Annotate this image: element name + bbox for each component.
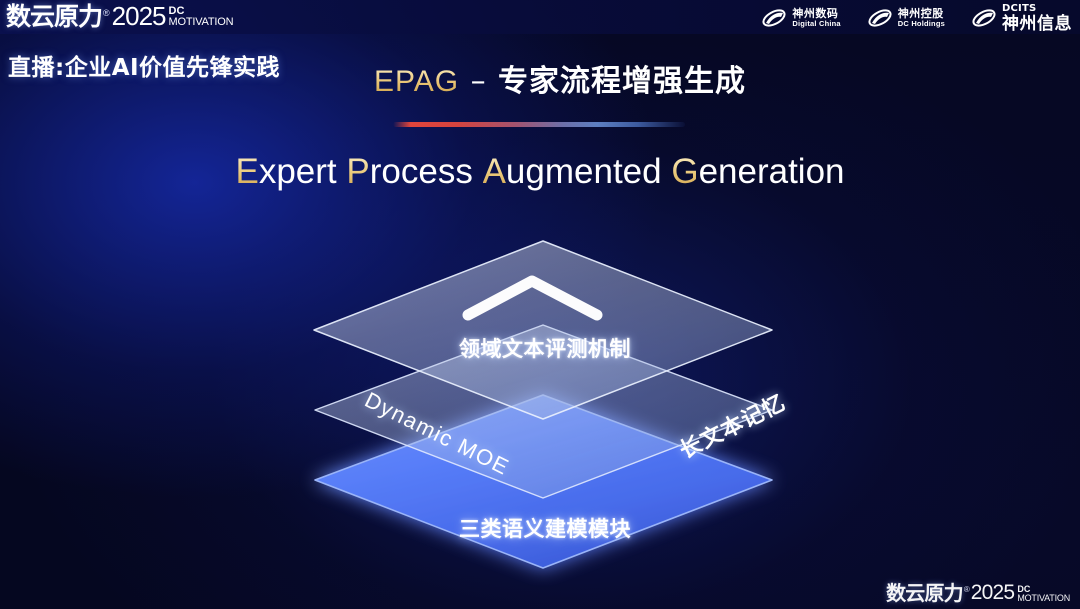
title-dash: – [471, 64, 487, 99]
gradient-divider [393, 122, 685, 127]
expansion-w1-rest: xpert [259, 152, 337, 191]
watermark-logo: 数云原力 ® 2025 DC MOTIVATION [886, 582, 1070, 603]
partner-name-en: Digital China [792, 20, 840, 28]
page-title: EPAG – 专家流程增强生成 [0, 56, 1080, 100]
partner-logos: 神州数码 Digital China 神州控股 DC Holdings [761, 4, 1072, 32]
expansion-w2-rest: rocess [370, 152, 473, 191]
partner-text: 神州控股 DC Holdings [898, 8, 945, 27]
title-chinese: 专家流程增强生成 [498, 64, 746, 99]
expansion-w4-rest: eneration [699, 152, 845, 191]
expansion-w2-cap: P [346, 152, 369, 191]
partner-name-cn: 神州信息 [1002, 15, 1072, 33]
partner-text: DCITS 神州信息 [1002, 4, 1072, 32]
brand-logo: 数云原力 ® 2025 DC MOTIVATION [6, 3, 233, 29]
brand-motivation: MOTIVATION [169, 17, 234, 28]
partner-name-en: DCITS [1002, 4, 1072, 15]
swirl-logo-icon [761, 7, 787, 29]
title-expansion: Expert Process Augmented Generation [0, 152, 1080, 192]
swirl-logo-icon [971, 7, 997, 29]
layered-stack-diagram: 领域文本评测机制 Dynamic MOE 长文本记忆 三类语义建模模块 [300, 225, 790, 565]
chevron-up-icon [460, 273, 605, 321]
slide-canvas: 数云原力 ® 2025 DC MOTIVATION 直播:企业AI价值先锋实践 … [0, 0, 1080, 609]
watermark-motivation: MOTIVATION [1017, 594, 1070, 603]
brand-year: 2025 [112, 3, 166, 29]
expansion-w3-rest: ugmented [506, 152, 662, 191]
swirl-logo-icon [867, 7, 893, 29]
partner-dcits: DCITS 神州信息 [971, 4, 1072, 32]
watermark-year: 2025 [971, 582, 1015, 603]
expansion-w1-cap: E [235, 152, 258, 191]
layer-label-top: 领域文本评测机制 [300, 333, 790, 363]
expansion-w3-cap: A [483, 152, 506, 191]
partner-text: 神州数码 Digital China [792, 8, 840, 27]
partner-name-en: DC Holdings [898, 20, 945, 28]
partner-dc-holdings: 神州控股 DC Holdings [867, 7, 945, 29]
layer-label-bottom: 三类语义建模模块 [300, 513, 790, 543]
brand-registered-mark: ® [103, 9, 110, 18]
watermark-dc-motivation: DC MOTIVATION [1017, 585, 1070, 603]
brand-name-cn: 数云原力 [6, 4, 102, 29]
watermark-name-cn: 数云原力 [886, 583, 963, 603]
partner-digital-china: 神州数码 Digital China [761, 7, 840, 29]
expansion-w4-cap: G [671, 152, 698, 191]
title-acronym: EPAG [374, 65, 459, 98]
brand-dc-motivation: DC MOTIVATION [169, 6, 234, 28]
watermark-registered-mark: ® [964, 586, 970, 594]
